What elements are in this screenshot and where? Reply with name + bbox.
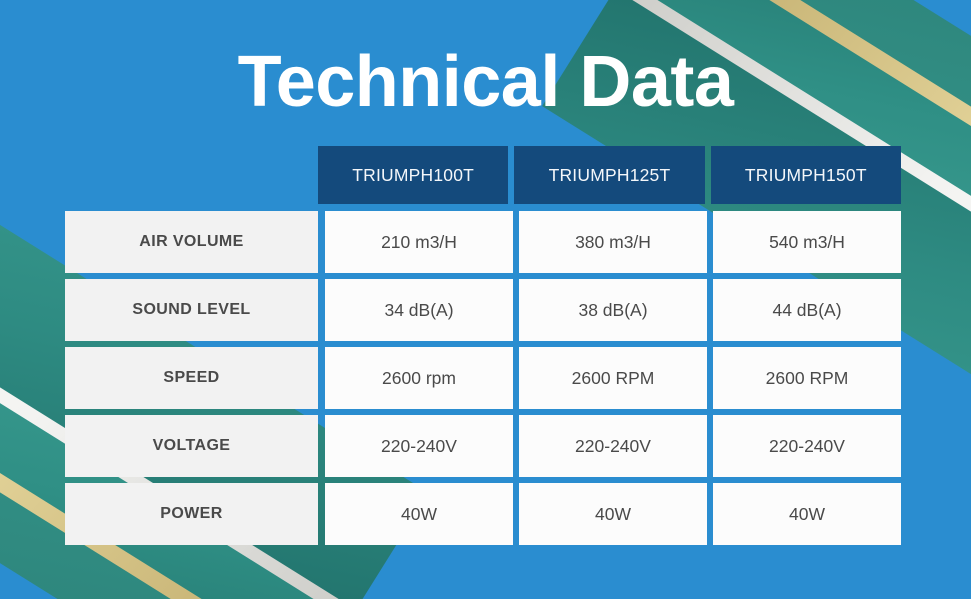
table-row: VOLTAGE 220-240V 220-240V 220-240V bbox=[65, 415, 901, 477]
table-row: POWER 40W 40W 40W bbox=[65, 483, 901, 545]
cell-power-triumph125t: 40W bbox=[519, 483, 707, 545]
cell-power-triumph100t: 40W bbox=[325, 483, 513, 545]
column-header-triumph125t: TRIUMPH125T bbox=[514, 146, 704, 204]
cell-voltage-triumph100t: 220-240V bbox=[325, 415, 513, 477]
cell-air-volume-triumph125t: 380 m3/H bbox=[519, 211, 707, 273]
table-row: SPEED 2600 rpm 2600 RPM 2600 RPM bbox=[65, 347, 901, 409]
table-row: SOUND LEVEL 34 dB(A) 38 dB(A) 44 dB(A) bbox=[65, 279, 901, 341]
technical-data-slide: Technical Data TRIUMPH100T TRIUMPH125T T… bbox=[0, 0, 971, 599]
cell-air-volume-triumph150t: 540 m3/H bbox=[713, 211, 901, 273]
row-label-sound-level: SOUND LEVEL bbox=[65, 279, 318, 341]
header-corner-spacer bbox=[65, 146, 318, 204]
cell-speed-triumph125t: 2600 RPM bbox=[519, 347, 707, 409]
cell-sound-level-triumph100t: 34 dB(A) bbox=[325, 279, 513, 341]
technical-data-table: TRIUMPH100T TRIUMPH125T TRIUMPH150T AIR … bbox=[65, 146, 901, 545]
table-header-row: TRIUMPH100T TRIUMPH125T TRIUMPH150T bbox=[65, 146, 901, 204]
page-title: Technical Data bbox=[0, 46, 971, 118]
cell-speed-triumph100t: 2600 rpm bbox=[325, 347, 513, 409]
cell-sound-level-triumph125t: 38 dB(A) bbox=[519, 279, 707, 341]
row-label-air-volume: AIR VOLUME bbox=[65, 211, 318, 273]
cell-air-volume-triumph100t: 210 m3/H bbox=[325, 211, 513, 273]
cell-voltage-triumph150t: 220-240V bbox=[713, 415, 901, 477]
row-label-power: POWER bbox=[65, 483, 318, 545]
cell-sound-level-triumph150t: 44 dB(A) bbox=[713, 279, 901, 341]
row-label-voltage: VOLTAGE bbox=[65, 415, 318, 477]
cell-voltage-triumph125t: 220-240V bbox=[519, 415, 707, 477]
column-header-triumph100t: TRIUMPH100T bbox=[318, 146, 508, 204]
row-label-speed: SPEED bbox=[65, 347, 318, 409]
cell-speed-triumph150t: 2600 RPM bbox=[713, 347, 901, 409]
column-header-triumph150t: TRIUMPH150T bbox=[711, 146, 901, 204]
table-row: AIR VOLUME 210 m3/H 380 m3/H 540 m3/H bbox=[65, 211, 901, 273]
cell-power-triumph150t: 40W bbox=[713, 483, 901, 545]
